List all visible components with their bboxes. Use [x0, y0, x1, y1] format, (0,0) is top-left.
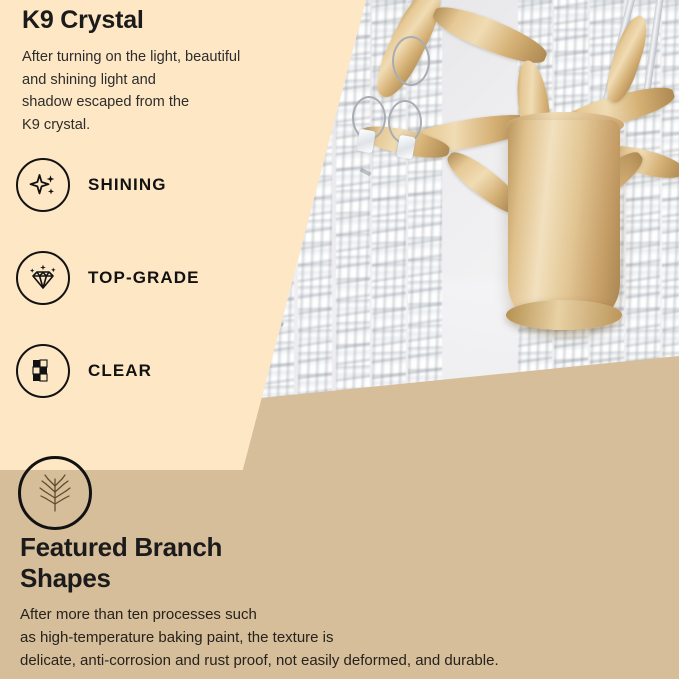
outro-line: After more than ten processes such — [20, 604, 670, 627]
feature-top-grade: TOP-GRADE — [16, 251, 200, 305]
sparkle-icon — [16, 158, 70, 212]
feature-shining: SHINING — [16, 158, 167, 212]
bottom-paragraph: After more than ten processes such as hi… — [20, 604, 670, 672]
feature-label: CLEAR — [88, 361, 152, 381]
intro-line: shadow escaped from the — [22, 91, 322, 114]
diamond-icon — [16, 251, 70, 305]
page-title: K9 Crystal — [22, 6, 144, 35]
headline-line: Shapes — [20, 563, 350, 594]
headline-line: Featured Branch — [20, 532, 350, 563]
intro-line: and shining light and — [22, 69, 322, 92]
intro-line: After turning on the light, beautiful — [22, 46, 322, 69]
gold-cylinder-lip — [506, 300, 622, 330]
checker-transparency-icon — [16, 344, 70, 398]
outro-line: as high-temperature baking paint, the te… — [20, 627, 670, 650]
feature-clear: CLEAR — [16, 344, 152, 398]
gold-center-cylinder — [508, 120, 620, 330]
intro-paragraph: After turning on the light, beautiful an… — [22, 46, 322, 136]
outro-line: delicate, anti-corrosion and rust proof,… — [20, 650, 670, 673]
product-feature-card: K9 Crystal After turning on the light, b… — [0, 0, 679, 679]
feature-label: TOP-GRADE — [88, 268, 200, 288]
bottom-headline: Featured Branch Shapes — [20, 532, 350, 593]
crystal-ring-hanger — [392, 36, 430, 86]
feature-label: SHINING — [88, 175, 167, 195]
branch-icon — [18, 456, 92, 530]
intro-line: K9 crystal. — [22, 114, 322, 137]
